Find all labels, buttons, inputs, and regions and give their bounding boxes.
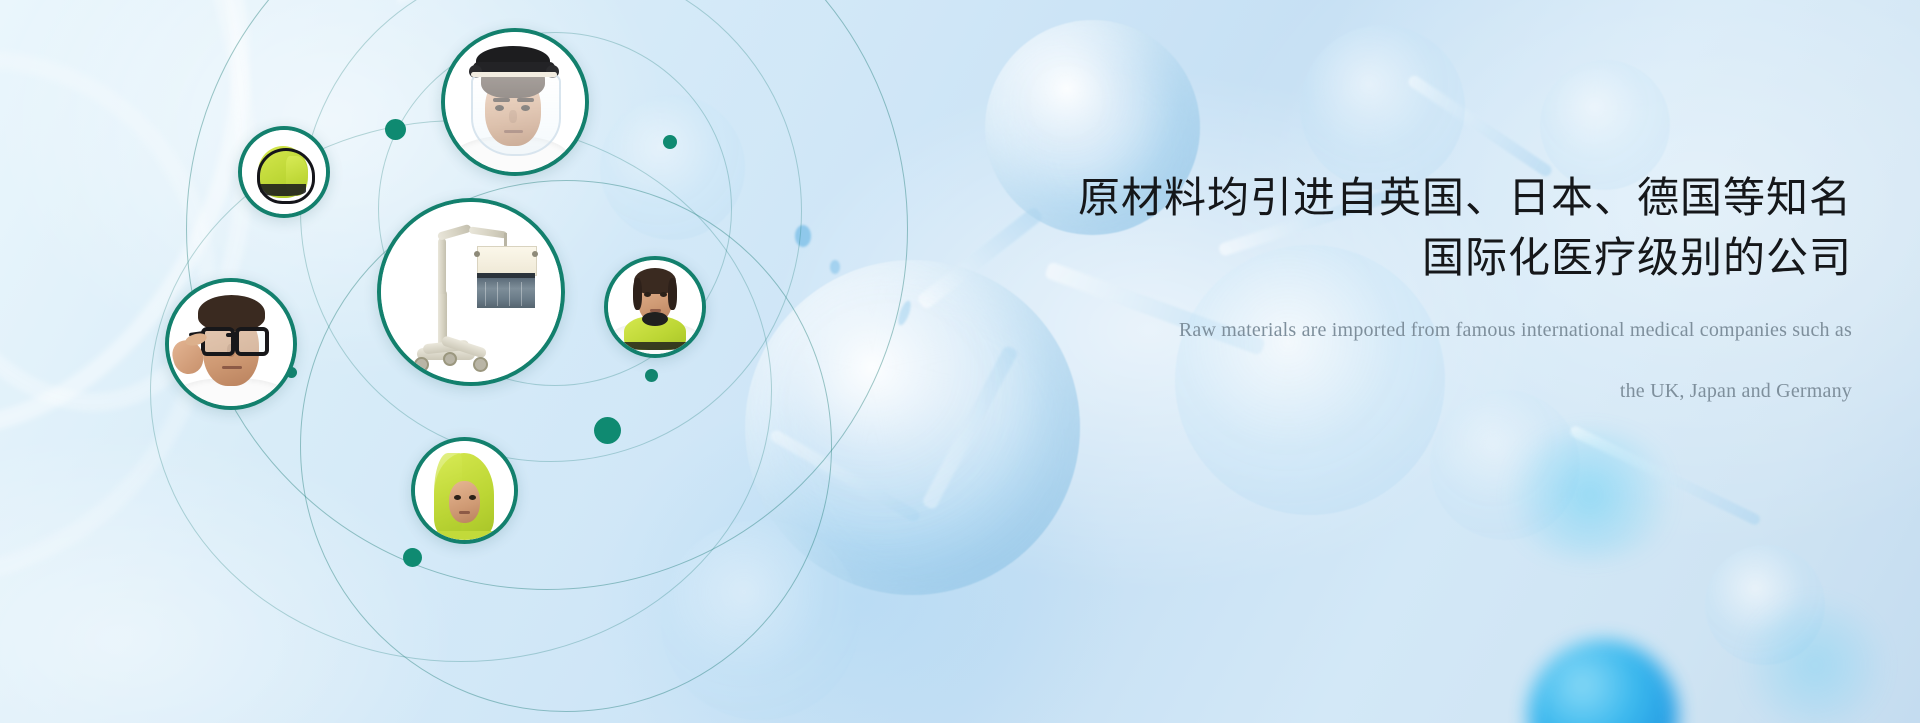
man-wearing-face-shield-photo[interactable] xyxy=(441,28,589,176)
cyan-glow-accent-2 xyxy=(1740,600,1890,723)
orbit-node-dot xyxy=(403,548,422,567)
man-wearing-lead-glasses-photo[interactable] xyxy=(165,278,297,410)
orbit-node-dot xyxy=(663,135,677,149)
lime-radiation-cap-photo[interactable] xyxy=(238,126,330,218)
subtitle-line-2: the UK, Japan and Germany xyxy=(1032,374,1852,408)
woman-wearing-thyroid-collar-photo[interactable] xyxy=(604,256,706,358)
mobile-x-ray-shield-stand-photo[interactable] xyxy=(377,198,565,386)
banner-copy: 原材料均引进自英国、日本、德国等知名 国际化医疗级别的公司 Raw materi… xyxy=(1032,168,1852,408)
orbit-node-dot xyxy=(645,369,658,382)
woman-wearing-lime-hood-photo[interactable] xyxy=(411,437,518,544)
subtitle-line-1: Raw materials are imported from famous i… xyxy=(1032,313,1852,347)
orbit-node-dot xyxy=(385,119,406,140)
orbit-node-dot xyxy=(594,417,621,444)
headline-line-1: 原材料均引进自英国、日本、德国等知名 xyxy=(1032,168,1852,228)
banner-stage: 原材料均引进自英国、日本、德国等知名 国际化医疗级别的公司 Raw materi… xyxy=(0,0,1920,723)
headline-line-2: 国际化医疗级别的公司 xyxy=(1032,228,1852,288)
cyan-glow-accent xyxy=(1500,430,1680,560)
